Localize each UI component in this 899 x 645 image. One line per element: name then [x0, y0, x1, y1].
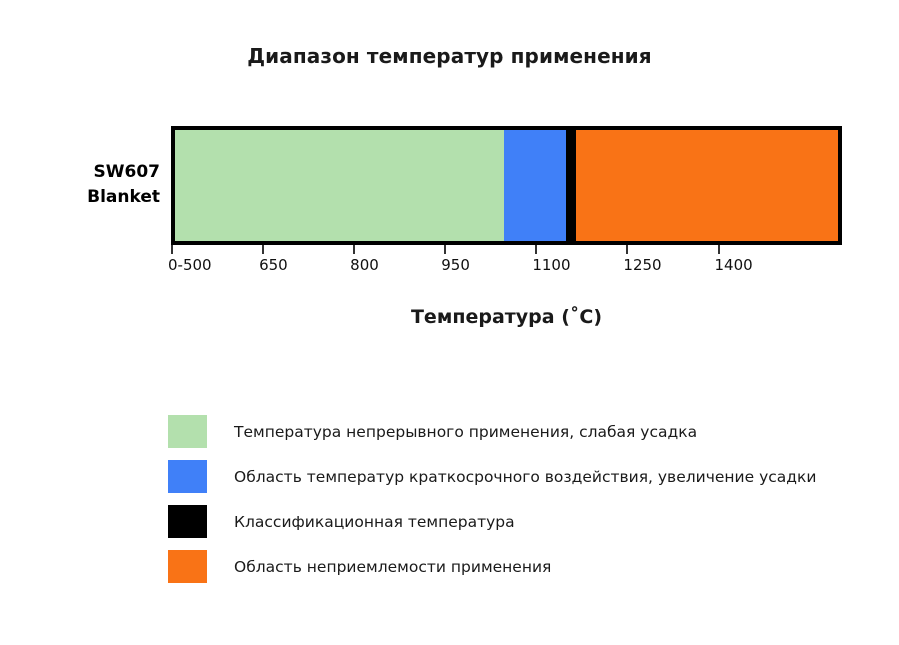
legend-item: Область неприемлемости применения — [168, 544, 868, 589]
x-axis-tick-label: 1100 — [532, 256, 570, 274]
x-axis-tick-label: 0-500 — [168, 256, 212, 274]
legend-swatch — [168, 550, 207, 583]
x-axis-tick-mark — [262, 245, 264, 254]
legend-item: Температура непрерывного применения, сла… — [168, 409, 868, 454]
legend-item: Область температур краткосрочного воздей… — [168, 454, 868, 499]
legend-swatch — [168, 460, 207, 493]
legend-label: Область неприемлемости применения — [234, 558, 551, 576]
legend-swatch — [168, 415, 207, 448]
chart-title: Диапазон температур применения — [0, 44, 899, 68]
stacked-bar — [175, 130, 838, 241]
x-axis-tick-label: 650 — [259, 256, 288, 274]
x-axis-tick-mark — [444, 245, 446, 254]
x-axis-title: Температура (˚С) — [171, 306, 842, 328]
bar-segment-classification-temperature — [566, 130, 576, 241]
plot-area — [171, 126, 842, 245]
y-axis-category-label-line-1: SW607 — [10, 160, 160, 185]
y-axis-category-label: SW607 Blanket — [10, 160, 160, 210]
legend-swatch — [168, 505, 207, 538]
x-axis-tick-mark — [718, 245, 720, 254]
legend-label: Область температур краткосрочного воздей… — [234, 468, 816, 486]
x-axis-tick-mark — [535, 245, 537, 254]
x-axis-tick-label: 950 — [441, 256, 470, 274]
legend-label: Температура непрерывного применения, сла… — [234, 423, 697, 441]
bar-segment-continuous-use — [175, 130, 504, 241]
bar-segment-unacceptable-range — [576, 130, 838, 241]
x-axis-tick-label: 800 — [350, 256, 379, 274]
x-axis-tick-label: 1250 — [623, 256, 661, 274]
y-axis-category-label-line-2: Blanket — [10, 185, 160, 210]
x-axis-tick-label: 1400 — [715, 256, 753, 274]
bar-segment-short-term-exposure — [504, 130, 566, 241]
x-axis: 0-500650800950110012501400 — [171, 245, 842, 295]
legend: Температура непрерывного применения, сла… — [168, 409, 868, 589]
legend-item: Классификационная температура — [168, 499, 868, 544]
x-axis-tick-mark — [171, 245, 173, 254]
x-axis-tick-mark — [626, 245, 628, 254]
legend-label: Классификационная температура — [234, 513, 515, 531]
x-axis-tick-mark — [353, 245, 355, 254]
